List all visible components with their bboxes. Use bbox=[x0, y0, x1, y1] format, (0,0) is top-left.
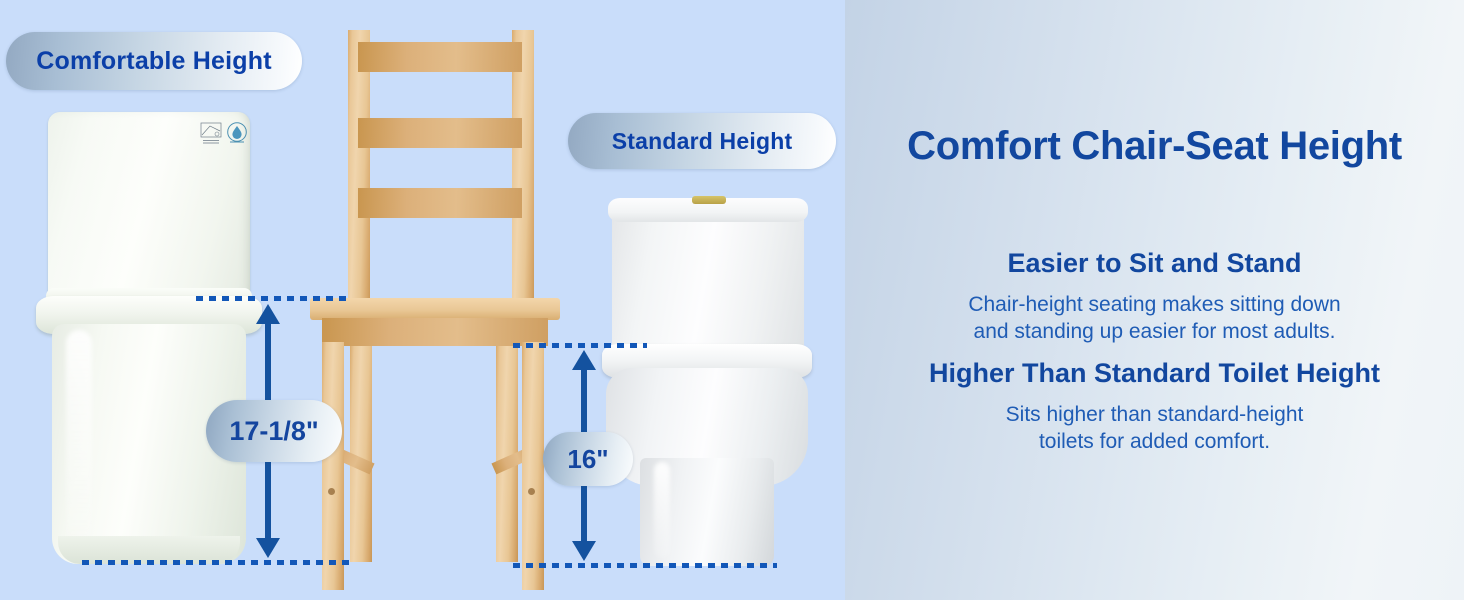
chair-back-slat bbox=[358, 118, 522, 148]
dimension-arrow-up-left bbox=[256, 304, 280, 324]
dimension-line-top-right bbox=[513, 343, 647, 348]
dimension-arrow-down-right bbox=[572, 541, 596, 561]
feature-heading-higher-toilet: Higher Than Standard Toilet Height bbox=[845, 358, 1464, 389]
comfort-height-toilet-image bbox=[36, 112, 262, 564]
certification-decal-icon bbox=[200, 121, 222, 147]
feature-body-higher-toilet: Sits higher than standard-height toilets… bbox=[845, 402, 1464, 456]
measurement-standard-height: 16" bbox=[543, 432, 633, 486]
chair-leg bbox=[322, 342, 344, 590]
chair-screw-plug bbox=[328, 488, 335, 495]
chair-screw-plug bbox=[528, 488, 535, 495]
chair-seat bbox=[310, 298, 560, 320]
dimension-line-bottom-right bbox=[513, 563, 777, 568]
image-panel: Comfortable Height Standard Height 17-1/… bbox=[0, 0, 845, 600]
dimension-line-bottom-left bbox=[82, 560, 352, 565]
measurement-comfort-height: 17-1/8" bbox=[206, 400, 342, 462]
chair-back-slat bbox=[358, 42, 522, 72]
feature-body-sit-stand: Chair-height seating makes sitting down … bbox=[845, 292, 1464, 346]
chair-back-post-right bbox=[512, 30, 534, 318]
product-infographic: Comfortable Height Standard Height 17-1/… bbox=[0, 0, 1464, 600]
flush-button-icon bbox=[692, 196, 726, 204]
feature-heading-sit-stand: Easier to Sit and Stand bbox=[845, 248, 1464, 279]
toilet-base bbox=[640, 458, 774, 566]
dimension-arrow-down-left bbox=[256, 538, 280, 558]
watersense-decal-icon bbox=[226, 121, 248, 147]
standard-height-toilet-image bbox=[596, 196, 818, 568]
badge-comfortable-height: Comfortable Height bbox=[6, 32, 302, 90]
badge-standard-height: Standard Height bbox=[568, 113, 836, 169]
chair-apron bbox=[322, 318, 548, 346]
toilet-tank bbox=[48, 112, 250, 297]
dimension-line-top-left bbox=[196, 296, 352, 301]
chair-leg bbox=[522, 342, 544, 590]
page-title: Comfort Chair-Seat Height bbox=[845, 124, 1464, 169]
dining-chair-image bbox=[300, 22, 560, 568]
chair-back-post-left bbox=[348, 30, 370, 318]
dimension-arrow-up-right bbox=[572, 350, 596, 370]
chair-back-slat bbox=[358, 188, 522, 218]
